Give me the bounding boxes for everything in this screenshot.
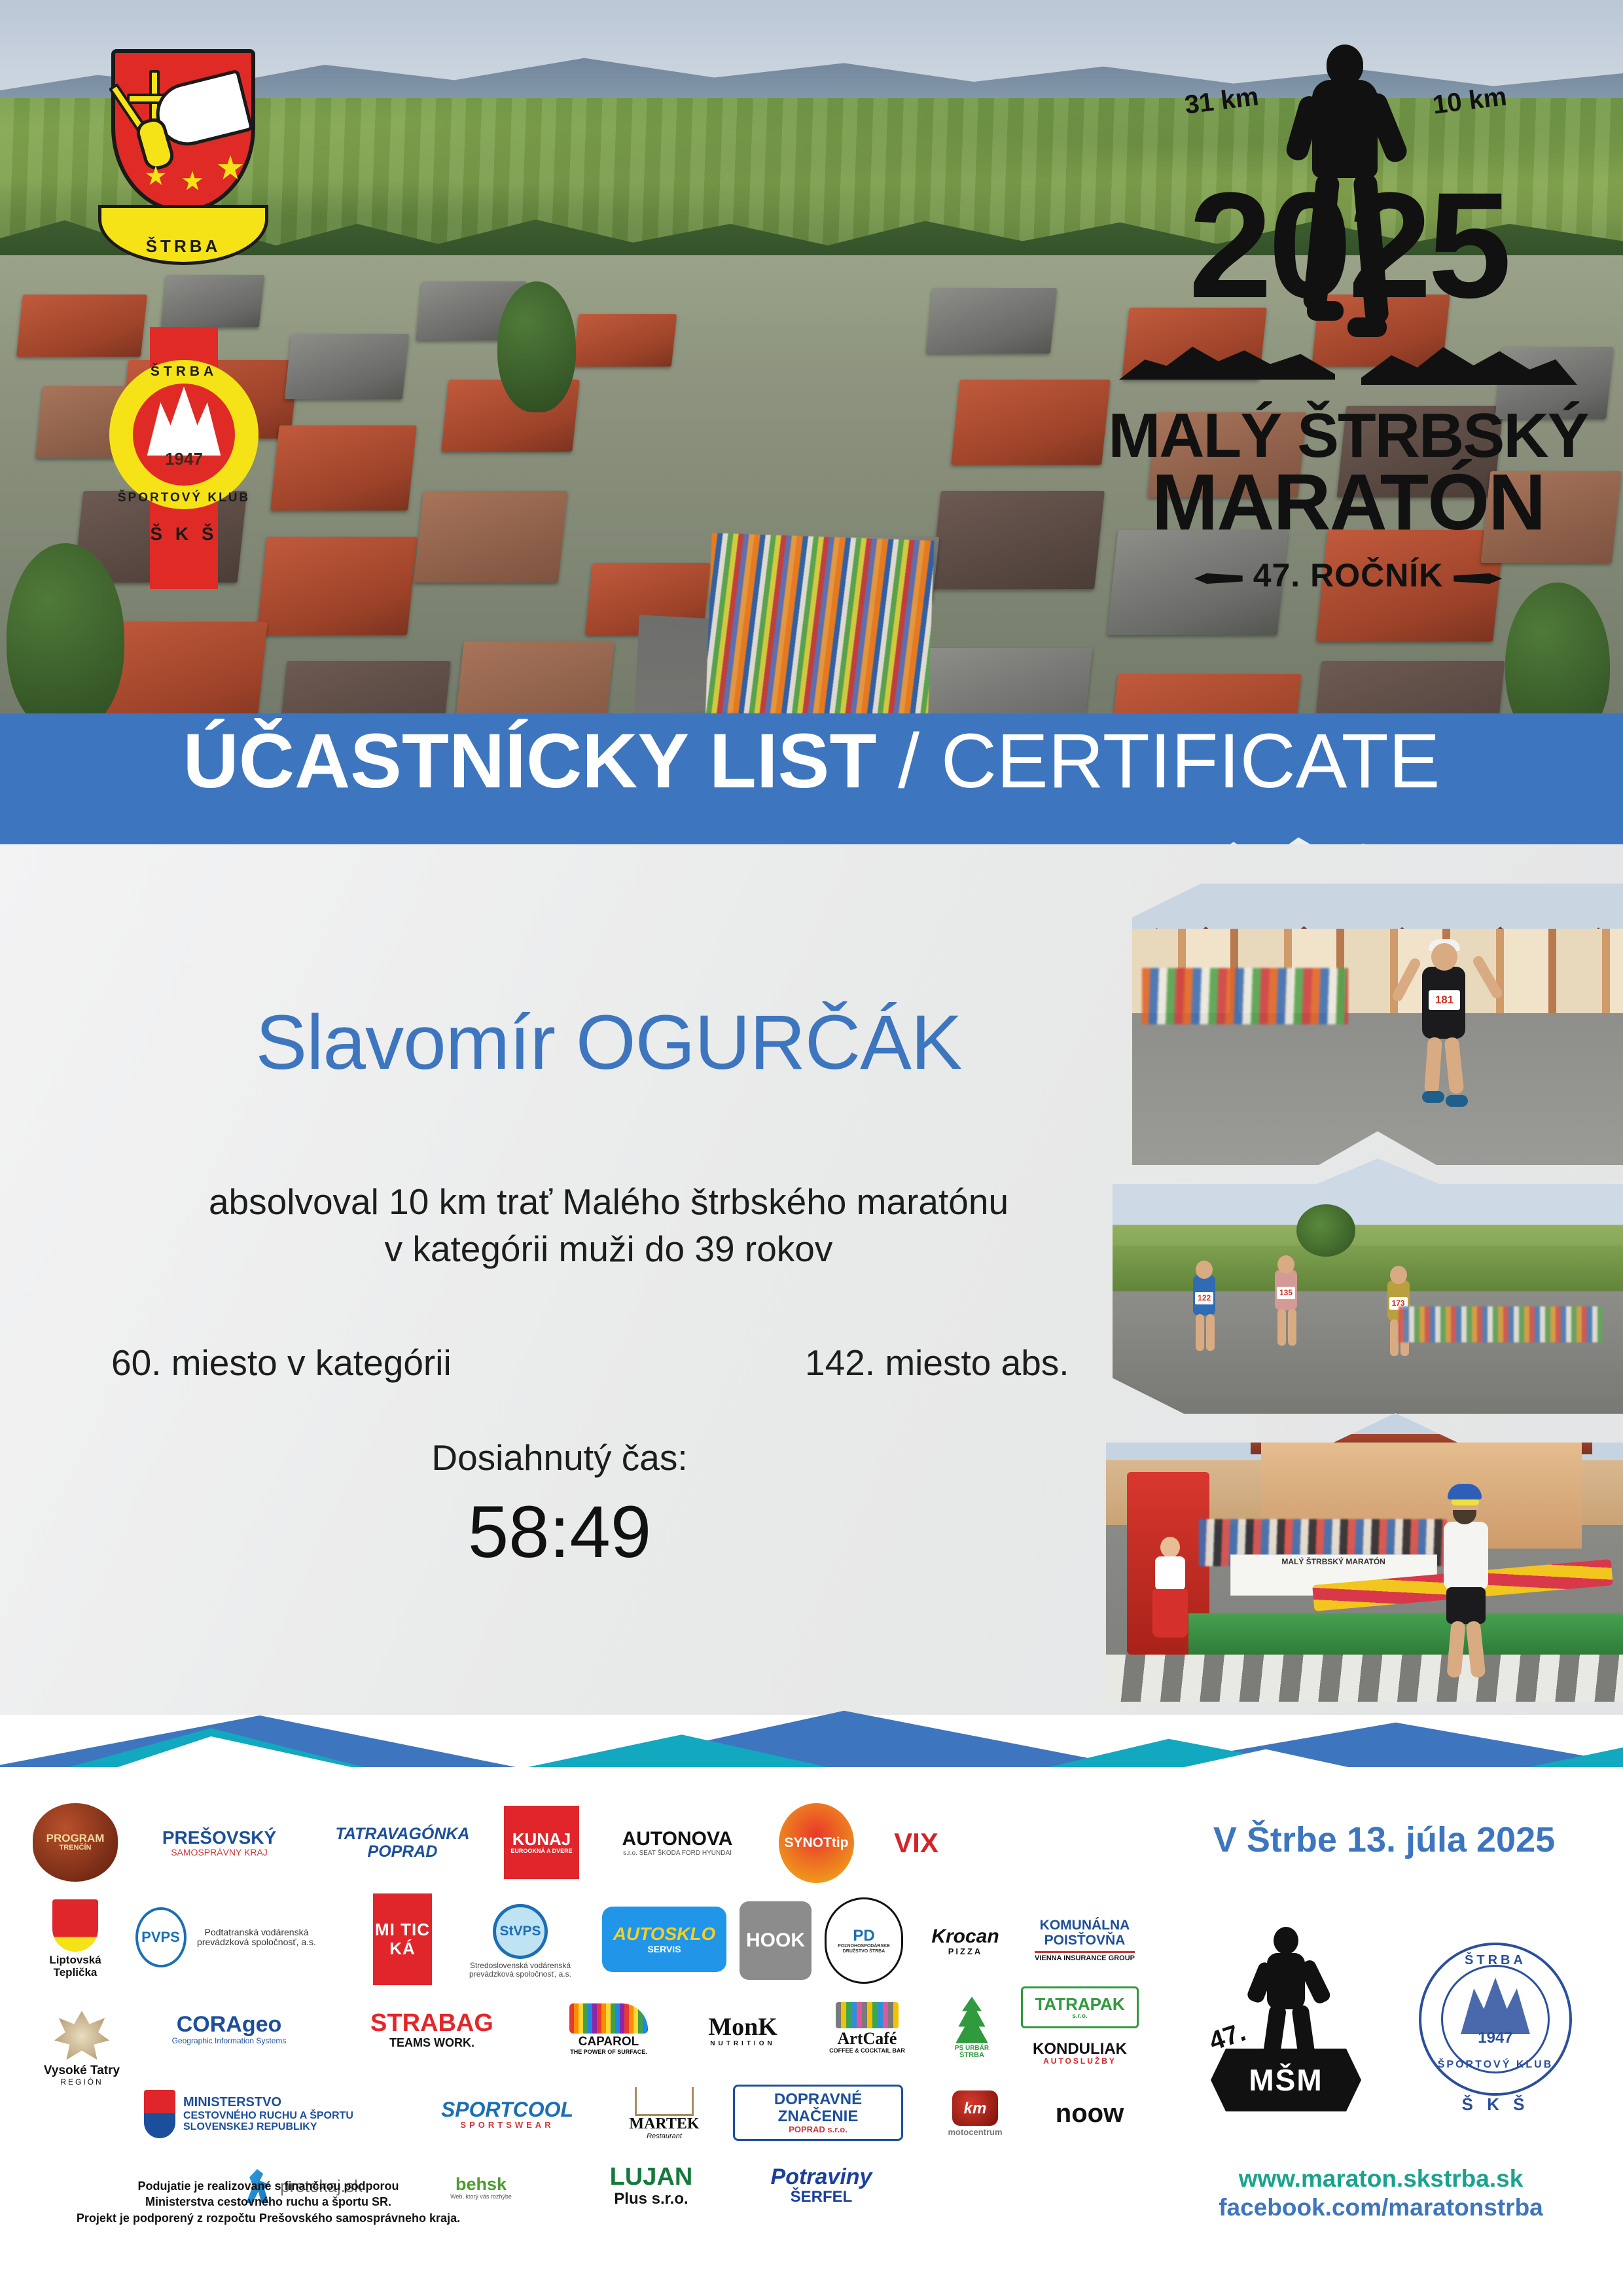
sponsor-sub: TRENČÍN	[60, 1844, 92, 1852]
sponsor-sub: POPRAD s.r.o.	[789, 2125, 847, 2134]
sponsor-name: KUNAJ	[512, 1830, 571, 1848]
participant-name: Slavomír OGURČÁK	[79, 998, 1139, 1087]
sponsor-sub: THE POWER OF SURFACE.	[570, 2049, 647, 2056]
sponsor-name: TATRAVAGÓNKA	[335, 1825, 469, 1843]
bib-number: 122	[1195, 1292, 1213, 1304]
sks-abbrev: Š K Š	[150, 524, 218, 545]
sponsor-name: HOOK	[746, 1930, 805, 1951]
bib-number: 135	[1277, 1287, 1295, 1299]
slovak-crest-icon	[144, 2090, 175, 2138]
sponsor-sub: EUROOKNÁ A DVERE	[510, 1848, 572, 1855]
sponsor-name: Liptovská	[49, 1954, 101, 1966]
folk-costume-girl	[1147, 1537, 1193, 1655]
sponsor-sub: CESTOVNÉHO RUCHU A ŠPORTU SLOVENSKEJ REP…	[183, 2110, 366, 2133]
stamp-abbrev: Š K Š	[1419, 2094, 1572, 2115]
funding-disclaimer: Podujatie je realizované s finančnou pod…	[39, 2178, 497, 2226]
sponsor-logo[interactable]: KOMUNÁLNA POISŤOVŇA VIENNA INSURANCE GRO…	[1027, 1901, 1142, 1980]
photo-finisher-celebrating: 181	[1132, 884, 1623, 1165]
sponsor-logo[interactable]: TATRAVAGÓNKA POPRAD	[314, 1808, 491, 1877]
sponsor-logo[interactable]: PREŠOVSKÝ SAMOSPRÁVNY KRAJ	[137, 1808, 301, 1877]
sponsor-name: AUTONOVA	[622, 1829, 733, 1850]
distance-long-label: 31 km	[1183, 82, 1260, 120]
photo-runners-on-hill: 122 135 173	[1113, 1158, 1623, 1414]
sponsor-sub: s.r.o. SEAT ŠKODA FORD HYUNDAI	[623, 1850, 732, 1857]
sponsor-name: MINISTERSTVO	[183, 2096, 281, 2110]
sponsor-logo[interactable]: CAPAROL THE POWER OF SURFACE.	[550, 1994, 668, 2065]
sponsor-sub: REGIÓN	[60, 2078, 103, 2087]
sponsor-logo[interactable]: Krocan PIZZA	[916, 1899, 1014, 1984]
event-edition: 47. ROČNÍK	[1106, 556, 1590, 594]
three-stars-icon	[145, 155, 243, 192]
sponsor-logo[interactable]: SYNOTtip	[779, 1803, 854, 1883]
sponsor-sub: ŠERFEL	[791, 2189, 853, 2206]
sponsor-sub: SPORTSWEAR	[460, 2121, 554, 2130]
sponsor-sub: POĽNOHOSPODÁRSKE DRUŽSTVO ŠTRBA	[827, 1944, 901, 1954]
sponsor-sub: Plus s.r.o.	[614, 2191, 688, 2208]
page-title-light: CERTIFICATE	[941, 718, 1440, 804]
sponsor-name: SYNOTtip	[785, 1836, 849, 1851]
sponsor-name: PREŠOVSKÝ	[162, 1828, 276, 1848]
sponsor-sub: Restaurant	[647, 2133, 682, 2141]
stamp-year: 1947	[1441, 2029, 1550, 2047]
distant-runners	[1399, 1306, 1603, 1342]
certificate-page: ŠTART ŠTRBA	[0, 0, 1623, 2296]
sponsor-logo[interactable]: STRABAG TEAMS WORK.	[360, 1994, 504, 2065]
category-placement: 60. miesto v kategórii	[111, 1342, 452, 1384]
msm-abbrev: MŠM	[1211, 2049, 1361, 2111]
sponsor-sub: motocentrum	[948, 2128, 1002, 2137]
sponsor-logo[interactable]: MI TIC KÁ	[373, 1893, 432, 1985]
liptovska-teplicka-crest-icon	[52, 1899, 98, 1952]
sponsor-name: MonK	[708, 2014, 777, 2041]
sponsor-logo[interactable]: MARTEK Restaurant	[609, 2072, 720, 2157]
sks-year: 1947	[133, 449, 235, 469]
runner-figure: 135	[1266, 1250, 1306, 1348]
photo-collage: 181 122 135	[1093, 870, 1623, 1715]
sponsor-logo[interactable]: MINISTERSTVO CESTOVNÉHO RUCHU A ŠPORTU S…	[137, 2072, 373, 2157]
photo-winner-at-finish: MALÝ ŠTRBSKÝ MARATÓN	[1106, 1407, 1623, 1702]
sponsor-sub: VIENNA INSURANCE GROUP	[1035, 1951, 1135, 1963]
footer: PROGRAM TRENČÍN PREŠOVSKÝ SAMOSPRÁVNY KR…	[0, 1767, 1623, 2296]
sponsor-logo[interactable]: MonK NUTRITION	[687, 1997, 798, 2065]
sponsor-sub: Podtatranská vodárenská prevádzková spol…	[193, 1928, 321, 1947]
sponsor-sub: Teplička	[54, 1967, 98, 1979]
page-title-bold: ÚČASTNÍCKY LIST	[183, 718, 877, 804]
funding-disclaimer-line1: Podujatie je realizované s finančnou pod…	[39, 2178, 497, 2194]
sponsor-logo[interactable]: ArtCafé COFFEE & COCKTAIL BAR	[811, 1992, 923, 2065]
sponsor-logo[interactable]: PROGRAM TRENČÍN	[33, 1803, 118, 1882]
stamp-bottom-label: ŠPORTOVÝ KLUB	[1419, 2059, 1572, 2071]
arrow-right-icon	[1454, 573, 1502, 584]
msm-logo: 47. MŠM	[1204, 1924, 1368, 2121]
shield-ribbon-label: ŠTRBA	[146, 236, 221, 262]
sks-club-logo: ŠTRBA 1947 ŠPORTOVÝ KLUB Š K Š	[101, 327, 265, 589]
achievement-line-1: absolvoval 10 km trať Malého štrbského m…	[72, 1178, 1145, 1226]
sponsor-logo-grid: PROGRAM TRENČÍN PREŠOVSKÝ SAMOSPRÁVNY KR…	[33, 1803, 1132, 2183]
stamp-top-label: ŠTRBA	[1419, 1953, 1572, 1968]
sponsor-name: KONDULIAK	[1033, 2041, 1127, 2058]
absolute-placement: 142. miesto abs.	[805, 1342, 1069, 1384]
sponsor-name: CORAgeo	[177, 2013, 282, 2037]
facebook-link[interactable]: facebook.com/maratonstrba	[1152, 2194, 1610, 2221]
sponsor-name: MARTEK	[629, 2116, 699, 2133]
funding-disclaimer-line3: Projekt je podporený z rozpočtu Prešovsk…	[39, 2210, 497, 2226]
sponsor-logo[interactable]: AUTOSKLO SERVIS	[602, 1907, 726, 1972]
winner-figure	[1427, 1484, 1505, 1680]
artcafe-bars-icon	[836, 2002, 899, 2028]
sponsor-name: PVPS	[135, 1907, 187, 1967]
sponsor-name: LUJAN	[610, 2164, 693, 2191]
sponsor-logo[interactable]: LUJAN Plus s.r.o.	[589, 2151, 713, 2220]
sponsor-logo[interactable]: km motocentrum	[923, 2078, 1027, 2150]
sponsor-name: ArtCafé	[838, 2030, 897, 2048]
sponsor-logo[interactable]: PVPS Podtatranská vodárenská prevádzková…	[130, 1901, 326, 1973]
sponsor-name: KOMUNÁLNA POISŤOVŇA	[1027, 1918, 1142, 1948]
sponsor-sub: s.r.o.	[1072, 2013, 1087, 2020]
caparol-elephant-icon	[569, 2003, 648, 2034]
sponsor-name: km	[952, 2090, 998, 2126]
mountain-ridge-icon	[1119, 321, 1577, 393]
shield-ribbon: ŠTRBA	[98, 205, 268, 265]
sponsor-sub: PIZZA	[948, 1947, 983, 1956]
page-title: ÚČASTNÍCKY LIST / CERTIFICATE	[0, 723, 1623, 800]
sponsor-name: VIX	[894, 1828, 938, 1857]
page-title-separator: /	[876, 718, 940, 804]
sponsor-logo[interactable]: noow	[1041, 2085, 1139, 2144]
sponsor-logo[interactable]: Vysoké Tatry REGIÓN	[33, 2000, 131, 2098]
cutlery-icon	[635, 2087, 694, 2116]
event-title-line1: MALÝ ŠTRBSKÝ	[1106, 406, 1590, 465]
sponsor-name: AUTOSKLO	[613, 1924, 716, 1944]
sponsor-logo[interactable]: CORAgeo Geographic Information Systems	[131, 1993, 327, 2065]
sponsor-logo[interactable]: HOOK	[740, 1901, 811, 1980]
sponsor-sub: Stredoslovenská vodárenská prevádzková s…	[452, 1962, 589, 1979]
sponsor-name: TATRAPAK	[1035, 1995, 1124, 2013]
sponsor-logo[interactable]: KUNAJ EUROOKNÁ A DVERE	[504, 1806, 579, 1879]
sponsor-name: DOPRAVNÉ ZNAČENIE	[735, 2091, 901, 2125]
runner-silhouette-icon	[1251, 1924, 1323, 2068]
sponsor-name: StVPS	[493, 1904, 548, 1959]
funding-disclaimer-line2: Ministerstva cestovného ruchu a športu S…	[39, 2194, 497, 2210]
sponsor-logo[interactable]: AUTONOVA s.r.o. SEAT ŠKODA FORD HYUNDAI	[592, 1807, 762, 1879]
sponsor-name: PROGRAM	[46, 1833, 105, 1844]
sponsor-name: Vysoké Tatry	[44, 2064, 120, 2078]
sponsor-sub: TEAMS WORK.	[389, 2037, 474, 2049]
edelweiss-icon	[54, 2011, 109, 2062]
achievement-line-2: v kategórii muži do 39 rokov	[72, 1225, 1145, 1273]
event-title-line2: MARATÓN	[1106, 465, 1590, 541]
sponsor-logo[interactable]: StVPS Stredoslovenská vodárenská prevádz…	[452, 1899, 589, 1984]
distance-short-label: 10 km	[1431, 82, 1508, 120]
sponsor-sub: ŠTRBA	[959, 2052, 984, 2060]
sponsor-name: Krocan	[931, 1926, 999, 1947]
sponsor-name: CAPAROL	[579, 2036, 639, 2049]
sponsor-sub: AUTOSLUŽBY	[1043, 2057, 1116, 2066]
sponsor-logo[interactable]: Liptovská Teplička	[33, 1895, 118, 1983]
sponsor-logo[interactable]: Potraviny ŠERFEL	[746, 2153, 897, 2218]
event-edition-label: 47. ROČNÍK	[1253, 557, 1444, 594]
sponsor-logo[interactable]: SPORTCOOL SPORTSWEAR	[425, 2078, 589, 2150]
sponsor-logo[interactable]: DOPRAVNÉ ZNAČENIE POPRAD s.r.o.	[733, 2085, 903, 2141]
sponsor-logo[interactable]: PS URBÁR ŠTRBA	[936, 1989, 1008, 2068]
sponsor-logo[interactable]: TATRAPAK s.r.o.	[1021, 1986, 1139, 2028]
arrow-left-icon	[1194, 573, 1243, 584]
sponsor-logo[interactable]: VIX	[877, 1804, 955, 1882]
sponsor-logo[interactable]: KONDULIAK AUTOSLUŽBY	[1021, 2032, 1139, 2074]
sponsor-sub: NUTRITION	[710, 2041, 775, 2048]
sponsor-sub: Geographic Information Systems	[172, 2037, 287, 2045]
sponsor-sub: COFFEE & COCKTAIL BAR	[829, 2048, 905, 2054]
spruce-tree-icon	[954, 1997, 990, 2045]
sponsor-name: Potraviny	[771, 2165, 872, 2189]
sponsor-name: MI TIC KÁ	[373, 1920, 432, 1958]
event-date-place: V Štrbe 13. júla 2025	[1158, 1820, 1610, 1860]
finish-time-value: 58:49	[72, 1496, 1047, 1569]
runner-figure: 181	[1397, 934, 1495, 1130]
sponsor-name: PD	[853, 1928, 874, 1945]
sponsor-sub: SAMOSPRÁVNY KRAJ	[171, 1848, 268, 1857]
sponsor-logo[interactable]: PD POĽNOHOSPODÁRSKE DRUŽSTVO ŠTRBA	[825, 1897, 903, 1984]
sponsor-sub: SERVIS	[647, 1945, 681, 1954]
sks-stamp: ŠTRBA 1947 ŠPORTOVÝ KLUB Š K Š	[1407, 1931, 1584, 2121]
strba-coat-of-arms: ŠTRBA	[98, 36, 268, 265]
sks-top-label: ŠTRBA	[109, 364, 259, 380]
runner-figure: 122	[1184, 1255, 1224, 1354]
sks-bottom-label: ŠPORTOVÝ KLUB	[109, 491, 259, 505]
event-year: 2025	[1106, 170, 1590, 321]
hero-photo: ŠTART ŠTRBA	[0, 0, 1623, 779]
sponsor-name: noow	[1056, 2100, 1124, 2128]
website-link[interactable]: www.maraton.skstrba.sk	[1152, 2165, 1610, 2193]
finish-time-label: Dosiahnutý čas:	[72, 1437, 1047, 1479]
event-logo-mark: 2025 31 km 10 km MALÝ ŠTRBSKÝ MARATÓN 47…	[1106, 39, 1590, 602]
sponsor-name: STRABAG	[370, 2010, 493, 2037]
sponsor-sub: POPRAD	[368, 1843, 438, 1861]
sponsor-name: SPORTCOOL	[441, 2098, 573, 2121]
bib-number: 181	[1429, 990, 1460, 1010]
